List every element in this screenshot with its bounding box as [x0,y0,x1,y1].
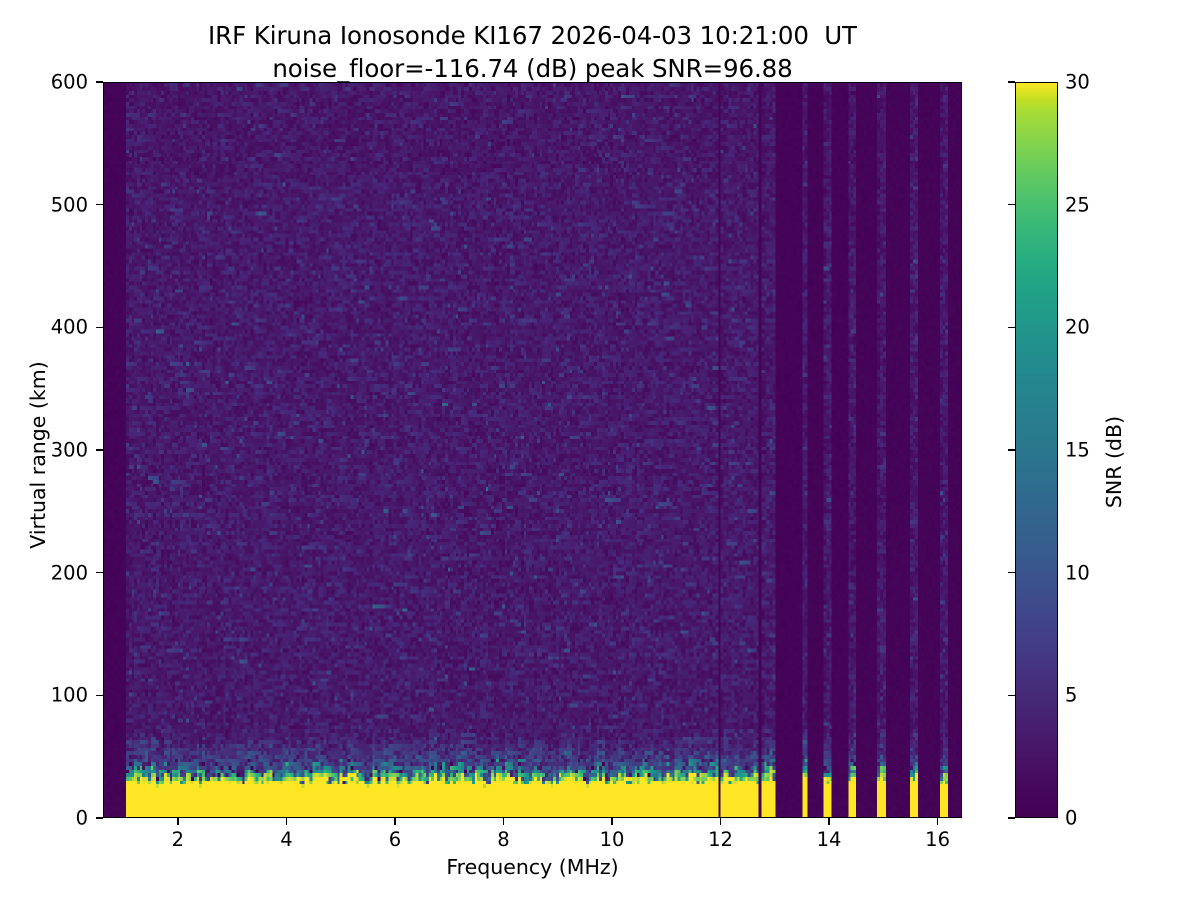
x-tick-mark [177,818,178,825]
y-tick-mark [96,81,103,82]
x-tick-label: 8 [473,828,533,851]
colorbar-gradient [1016,83,1057,817]
colorbar-tick-label: 0 [1065,807,1077,830]
colorbar-tick-label: 10 [1065,561,1090,584]
colorbar-tick-mark [1008,449,1015,450]
colorbar-tick-mark [1008,81,1015,82]
colorbar-tick-mark [1008,327,1015,328]
colorbar-tick-mark [1008,695,1015,696]
x-tick-mark [828,818,829,825]
x-tick-label: 16 [908,828,968,851]
colorbar-tick-label: 15 [1065,439,1090,462]
colorbar-tick-mark [1008,572,1015,573]
colorbar-title: SNR (dB) [1102,94,1126,830]
ionogram-plot-area[interactable] [103,82,962,818]
colorbar-tick-label: 5 [1065,684,1077,707]
y-tick-mark [96,449,103,450]
x-tick-mark [937,818,938,825]
x-tick-label: 6 [365,828,425,851]
ionogram-heatmap-canvas [104,83,961,817]
x-tick-label: 12 [691,828,751,851]
title-line-1: IRF Kiruna Ionosonde KI167 2026-04-03 10… [208,21,857,50]
x-tick-mark [720,818,721,825]
x-tick-mark [611,818,612,825]
title-line-2: noise_floor=-116.74 (dB) peak SNR=96.88 [0,53,1065,86]
x-tick-label: 10 [582,828,642,851]
x-tick-label: 2 [148,828,208,851]
colorbar-tick-label: 20 [1065,316,1090,339]
colorbar[interactable] [1015,82,1058,818]
y-tick-mark [96,817,103,818]
y-axis-title: Virtual range (km) [26,87,50,823]
x-axis-title: Frequency (MHz) [103,855,962,879]
colorbar-tick-label: 25 [1065,193,1090,216]
y-tick-mark [96,695,103,696]
colorbar-tick-mark [1008,204,1015,205]
y-tick-mark [96,327,103,328]
y-tick-mark [96,204,103,205]
x-tick-mark [286,818,287,825]
x-tick-label: 4 [256,828,316,851]
figure-title: IRF Kiruna Ionosonde KI167 2026-04-03 10… [0,20,1065,85]
colorbar-tick-label: 30 [1065,71,1090,94]
colorbar-tick-mark [1008,817,1015,818]
x-tick-mark [503,818,504,825]
x-tick-label: 14 [799,828,859,851]
x-tick-mark [394,818,395,825]
y-tick-mark [96,572,103,573]
ionogram-figure: IRF Kiruna Ionosonde KI167 2026-04-03 10… [0,0,1200,900]
